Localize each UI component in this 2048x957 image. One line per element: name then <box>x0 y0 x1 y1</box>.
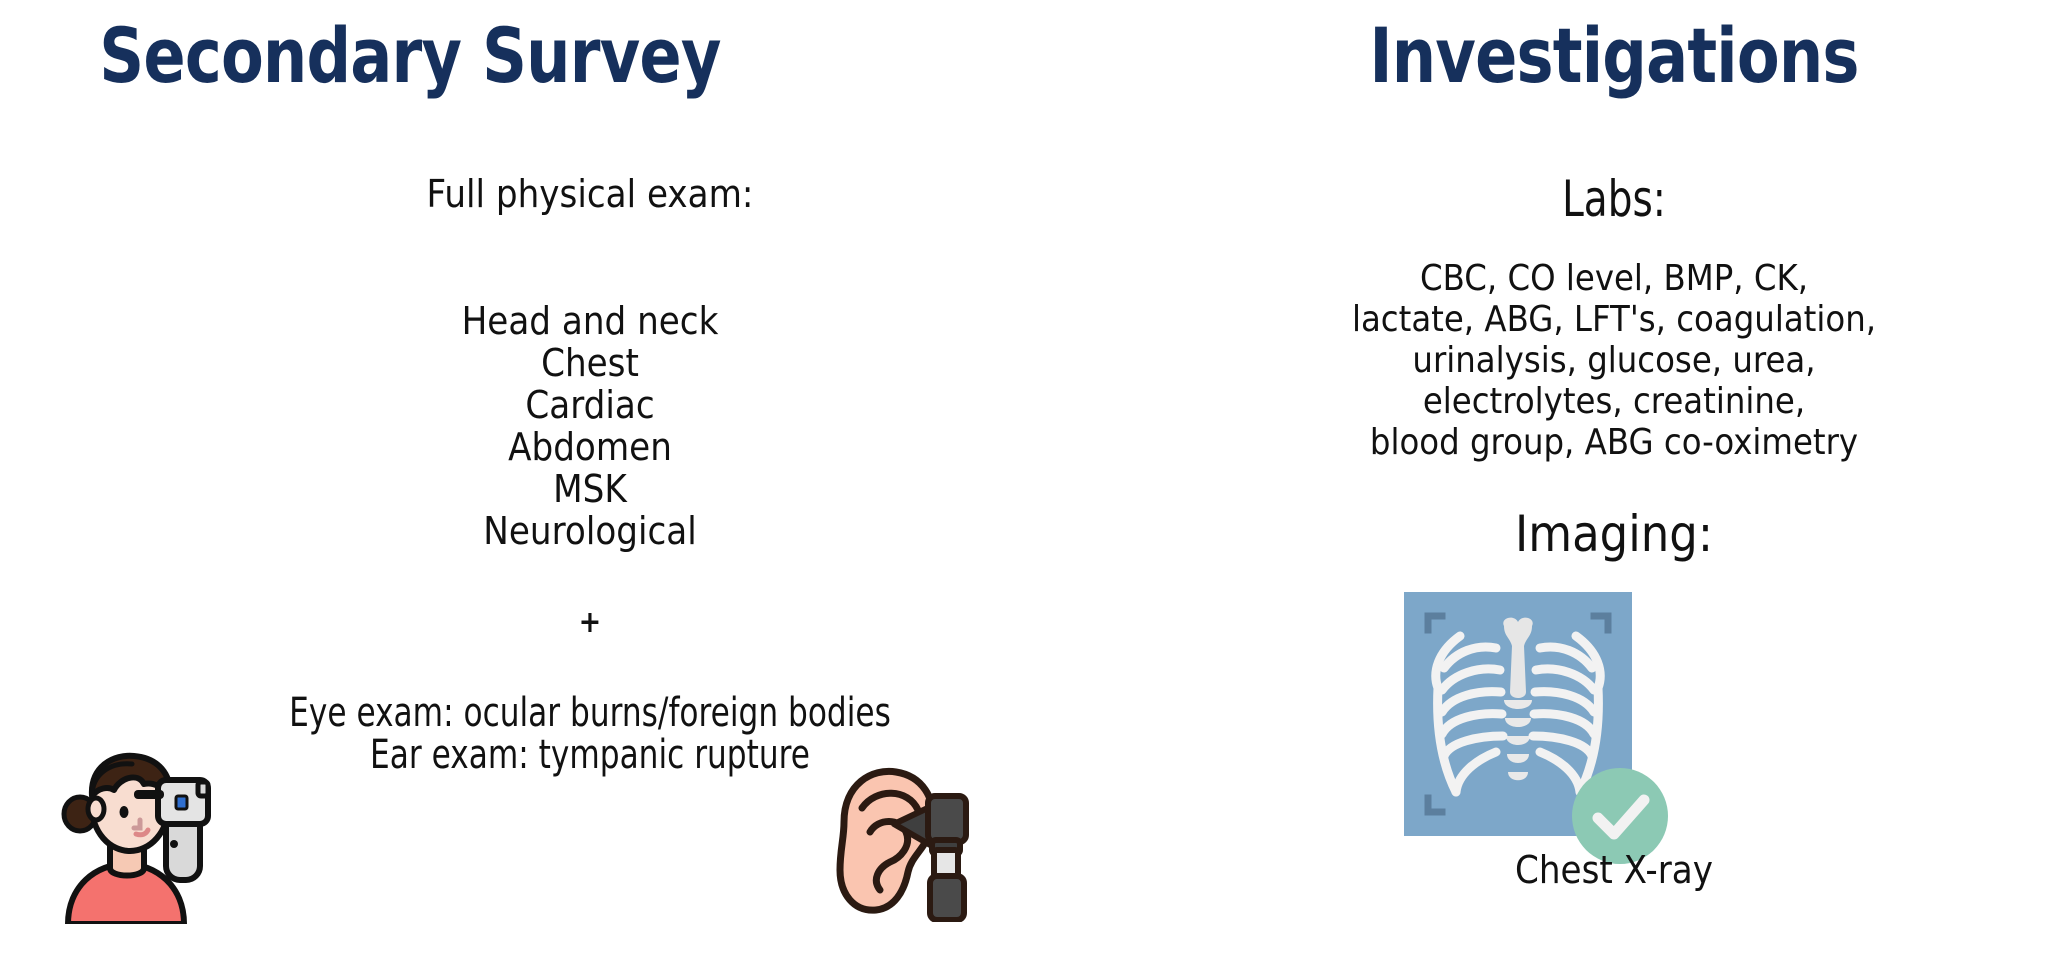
list-item: lactate, ABG, LFT's, coagulation, <box>1223 299 2004 340</box>
woman-ophthalmoscope-eye-exam-icon <box>48 752 216 924</box>
list-item: MSK <box>59 468 1121 510</box>
exam-items-list: Head and neck Chest Cardiac Abdomen MSK … <box>59 300 1121 552</box>
secondary-survey-column: Secondary Survey Full physical exam: Hea… <box>0 0 1180 957</box>
corner-bracket-bl <box>1428 798 1442 812</box>
list-item: Abdomen <box>59 426 1121 468</box>
page-title-secondary-survey: Secondary Survey <box>0 18 894 94</box>
list-item: Chest <box>59 342 1121 384</box>
page-title-investigations: Investigations <box>1258 18 1970 94</box>
plus-separator: + <box>59 605 1121 640</box>
labs-heading: Labs: <box>1275 170 1952 228</box>
list-item: Head and neck <box>59 300 1121 342</box>
list-item: Neurological <box>59 510 1121 552</box>
eye-exam-line: Eye exam: ocular burns/foreign bodies <box>130 690 1050 736</box>
corner-bracket-tl <box>1428 616 1442 630</box>
slide-root: Secondary Survey Full physical exam: Hea… <box>0 0 2048 957</box>
full-physical-exam-label: Full physical exam: <box>59 172 1121 216</box>
labs-list: CBC, CO level, BMP, CK, lactate, ABG, LF… <box>1223 258 2004 463</box>
list-item: CBC, CO level, BMP, CK, <box>1223 258 2004 299</box>
chest-xray-caption: Chest X-ray <box>1223 848 2004 892</box>
imaging-heading: Imaging: <box>1223 505 2004 563</box>
ear-otoscope-icon <box>828 762 976 922</box>
list-item: electrolytes, creatinine, <box>1223 381 2004 422</box>
investigations-column: Investigations Labs: CBC, CO level, BMP,… <box>1180 0 2048 957</box>
chest-xray-icon <box>1404 592 1632 836</box>
corner-bracket-tr <box>1594 616 1608 630</box>
list-item: blood group, ABG co-oximetry <box>1223 422 2004 463</box>
list-item: urinalysis, glucose, urea, <box>1223 340 2004 381</box>
list-item: Cardiac <box>59 384 1121 426</box>
